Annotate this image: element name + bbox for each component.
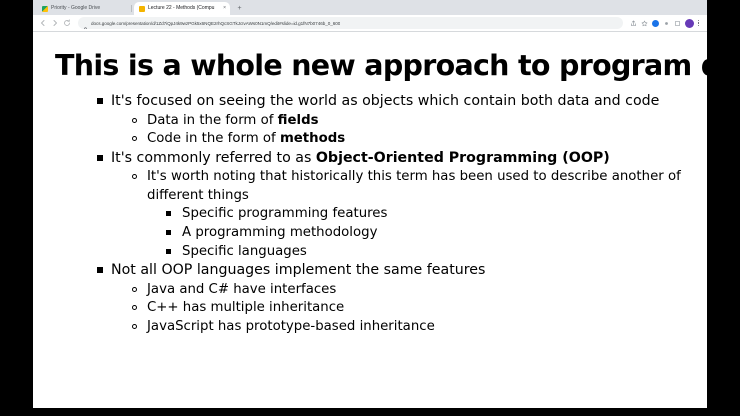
slide-bullet-level-3: A programming methodology: [155, 224, 685, 243]
slide-bullet-text: Java and C# have interfaces: [147, 281, 685, 300]
bullet-text-run: Not all OOP languages implement the same…: [111, 262, 485, 278]
new-tab-icon[interactable]: +: [234, 3, 245, 14]
bullet-text-run: It's commonly referred to as: [111, 150, 316, 166]
browser-window: Priority - Google Drive Lecture 22 - Met…: [33, 0, 707, 408]
browser-tab-2[interactable]: Lecture 22 - Methods (Compu ×: [134, 2, 230, 15]
slide-bullet-text: A programming methodology: [182, 224, 685, 243]
bullet-text-run: Code in the form of: [147, 131, 280, 146]
slide-bullet-text: Specific programming features: [182, 205, 685, 224]
bullet-text-run: Specific programming features: [182, 206, 387, 221]
bullet-text-run: JavaScript has prototype-based inheritan…: [147, 319, 435, 334]
google-slides-icon: [139, 6, 145, 12]
bullet-circle-icon: [121, 281, 147, 292]
slide-bullet-level-1: Not all OOP languages implement the same…: [89, 261, 685, 281]
slide-bullet-text: It's commonly referred to as Object-Orie…: [111, 149, 685, 169]
lock-icon: [83, 20, 88, 26]
bullet-circle-icon: [121, 112, 147, 123]
bullet-text-emphasis: fields: [278, 113, 319, 128]
bullet-circle-icon: [121, 299, 147, 310]
address-bar[interactable]: docs.google.com/presentation/d/1Zd7iQpJ4…: [78, 17, 623, 29]
browser-menu-icon[interactable]: [694, 20, 703, 26]
slide-bullet-text: It's worth noting that historically this…: [147, 168, 685, 205]
letterbox-viewport: Priority - Google Drive Lecture 22 - Met…: [0, 0, 740, 416]
slide-bullet-level-2: Code in the form of methods: [121, 130, 685, 149]
url-text: docs.google.com/presentation/d/1Zd7iQpJ4…: [91, 20, 340, 27]
google-drive-icon: [42, 6, 48, 12]
bullet-text-run: It's worth noting that historically this…: [147, 169, 681, 203]
slide-bullet-text: Data in the form of fields: [147, 112, 685, 131]
bullet-text-emphasis: Object-Oriented Programming (OOP): [316, 150, 610, 166]
tab-separator: [131, 5, 132, 12]
bullet-square-icon: [155, 224, 182, 235]
slide-bullet-text: JavaScript has prototype-based inheritan…: [147, 318, 685, 337]
slide-bullet-text: Code in the form of methods: [147, 130, 685, 149]
slide-bullet-level-2: Data in the form of fields: [121, 112, 685, 131]
back-arrow-icon[interactable]: [37, 17, 49, 29]
slide-bullet-level-1: It's focused on seeing the world as obje…: [89, 92, 685, 112]
bullet-circle-icon: [121, 168, 147, 179]
slide-bullet-level-1: It's commonly referred to as Object-Orie…: [89, 149, 685, 169]
bullet-text-run: C++ has multiple inheritance: [147, 300, 344, 315]
slide-bullet-level-2: JavaScript has prototype-based inheritan…: [121, 318, 685, 337]
slide-bullet-text: C++ has multiple inheritance: [147, 299, 685, 318]
slide-bullet-level-2: Java and C# have interfaces: [121, 281, 685, 300]
bullet-text-run: Java and C# have interfaces: [147, 282, 336, 297]
slide-stage: This is a whole new approach to program …: [33, 32, 707, 407]
avatar[interactable]: [683, 18, 694, 29]
tab-title: Priority - Google Drive: [51, 5, 125, 12]
bullet-square-icon: [89, 149, 111, 161]
bullet-text-run: Specific languages: [182, 244, 307, 259]
bullet-square-icon: [89, 261, 111, 273]
bullet-text-emphasis: methods: [280, 131, 345, 146]
forward-arrow-icon[interactable]: [49, 17, 61, 29]
bullet-text-run: Data in the form of: [147, 113, 278, 128]
bullet-circle-icon: [121, 130, 147, 141]
reload-icon[interactable]: [61, 17, 73, 29]
close-icon[interactable]: ×: [223, 6, 226, 11]
share-icon[interactable]: [628, 18, 639, 29]
bullet-text-run: A programming methodology: [182, 225, 377, 240]
extension-icon-blue[interactable]: [650, 18, 661, 29]
browser-toolbar: docs.google.com/presentation/d/1Zd7iQpJ4…: [33, 15, 707, 32]
slide-bullet-level-2: C++ has multiple inheritance: [121, 299, 685, 318]
browser-tab-1[interactable]: Priority - Google Drive: [37, 2, 129, 15]
bullet-square-icon: [89, 92, 111, 104]
bookmark-star-icon[interactable]: [639, 18, 650, 29]
bullet-square-icon: [155, 243, 182, 254]
extension-icon-grey[interactable]: [661, 18, 672, 29]
slide-bullet-text: It's focused on seeing the world as obje…: [111, 92, 685, 112]
bullet-square-icon: [155, 205, 182, 216]
slide-bullet-level-3: Specific programming features: [155, 205, 685, 224]
slide-bullet-text: Not all OOP languages implement the same…: [111, 261, 685, 281]
bullet-text-run: It's focused on seeing the world as obje…: [111, 93, 659, 109]
slide-bullet-level-2: It's worth noting that historically this…: [121, 168, 685, 205]
slide-body-list: It's focused on seeing the world as obje…: [55, 92, 685, 336]
extension-puzzle-icon[interactable]: [672, 18, 683, 29]
slide-bullet-level-3: Specific languages: [155, 243, 685, 262]
slide-title: This is a whole new approach to program …: [55, 50, 685, 82]
bullet-circle-icon: [121, 318, 147, 329]
tab-title: Lecture 22 - Methods (Compu: [148, 5, 220, 12]
tab-strip: Priority - Google Drive Lecture 22 - Met…: [33, 0, 707, 15]
presentation-slide: This is a whole new approach to program …: [33, 32, 707, 407]
slide-bullet-text: Specific languages: [182, 243, 685, 262]
